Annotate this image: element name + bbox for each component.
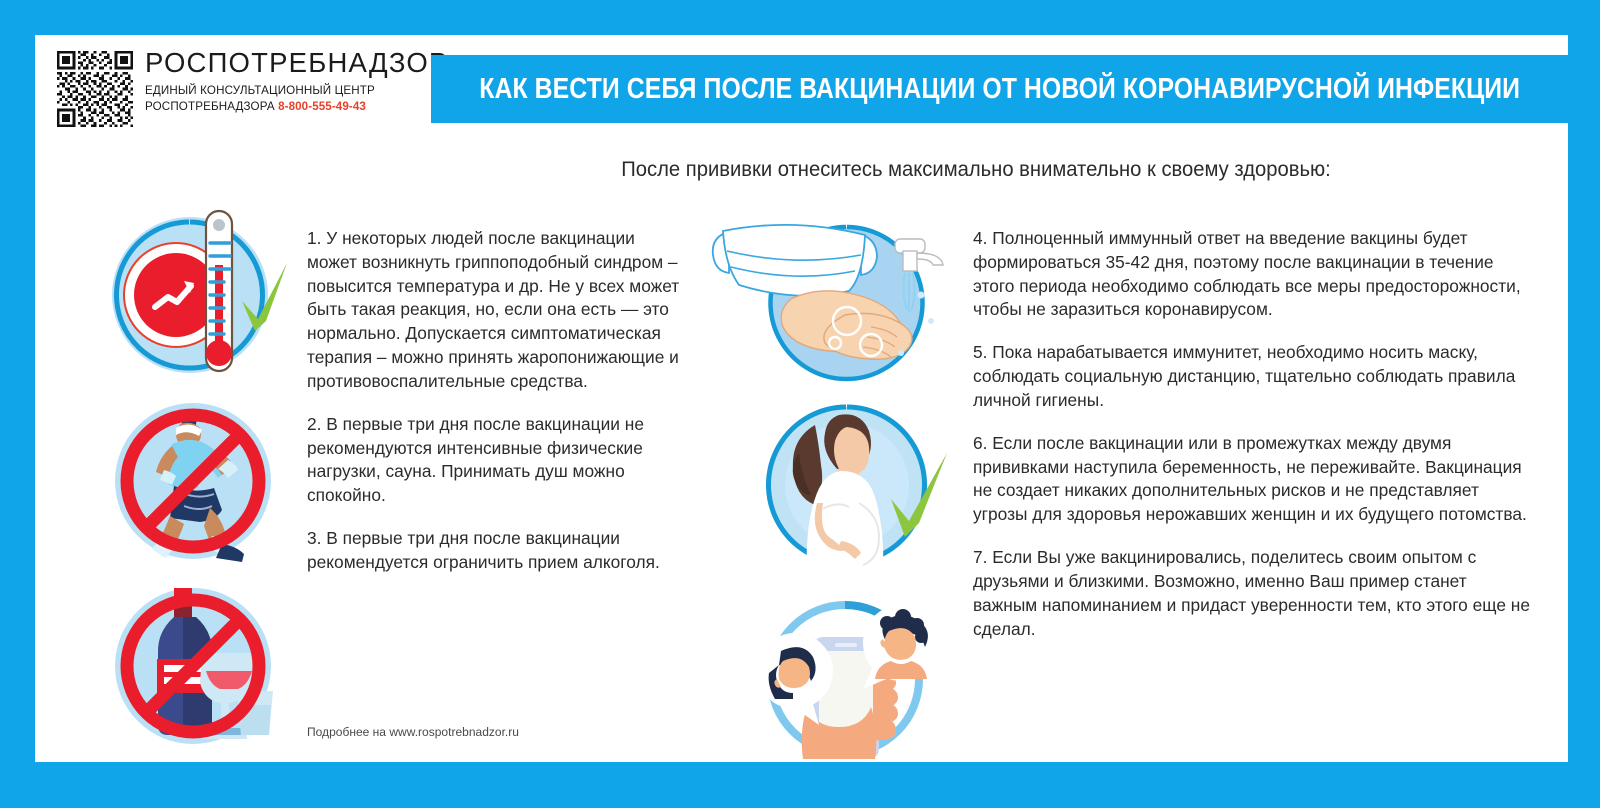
mask-and-handwashing-icon (695, 203, 985, 391)
middle-icon-column (695, 203, 895, 767)
brand-text-block: РОСПОТРЕБНАДЗОР ЕДИНЫЙ КОНСУЛЬТАЦИОННЫЙ … (145, 47, 448, 116)
brand-subtitle-line1: ЕДИНЫЙ КОНСУЛЬТАЦИОННЫЙ ЦЕНТР (145, 84, 375, 97)
pregnant-woman-approved-icon (695, 391, 985, 579)
no-running-exercise-icon (98, 388, 298, 573)
paragraph-5: 5. Пока нарабатывается иммунитет, необхо… (973, 341, 1534, 412)
paragraph-4: 4. Полноценный иммунный ответ на введени… (973, 227, 1534, 322)
share-experience-phone-icon (695, 579, 985, 767)
left-text-column: 1. У некоторых людей после вакцинации мо… (307, 227, 687, 575)
poster-card: РОСПОТРЕБНАДЗОР ЕДИНЫЙ КОНСУЛЬТАЦИОННЫЙ … (35, 35, 1568, 762)
right-text-column: 4. Полноценный иммунный ответ на введени… (973, 227, 1543, 641)
brand-subtitle: ЕДИНЫЙ КОНСУЛЬТАЦИОННЫЙ ЦЕНТР РОСПОТРЕБН… (145, 83, 448, 116)
poster-header: РОСПОТРЕБНАДЗОР ЕДИНЫЙ КОНСУЛЬТАЦИОННЫЙ … (35, 35, 1568, 140)
paragraph-1: 1. У некоторых людей после вакцинации мо… (307, 227, 681, 394)
footnote-website[interactable]: Подробнее на www.rospotrebnadzor.ru (307, 725, 519, 739)
paragraph-3: 3. В первые три дня после вакцинации рек… (307, 527, 681, 575)
page-title: КАК ВЕСТИ СЕБЯ ПОСЛЕ ВАКЦИНАЦИИ ОТ НОВОЙ… (479, 73, 1520, 106)
subtitle: После прививки отнеситесь максимально вн… (464, 157, 1489, 182)
qr-code-icon (57, 51, 133, 127)
brand-name: РОСПОТРЕБНАДЗОР (145, 49, 448, 78)
poster-root: РОСПОТРЕБНАДЗОР ЕДИНЫЙ КОНСУЛЬТАЦИОННЫЙ … (0, 0, 1600, 808)
left-icon-column (98, 203, 298, 758)
paragraph-2: 2. В первые три дня после вакцинации не … (307, 413, 681, 508)
title-banner: КАК ВЕСТИ СЕБЯ ПОСЛЕ ВАКЦИНАЦИИ ОТ НОВОЙ… (431, 55, 1568, 123)
consultation-phone[interactable]: 8-800-555-49-43 (278, 100, 366, 113)
rospotrebnadzor-brand: РОСПОТРЕБНАДЗОР ЕДИНЫЙ КОНСУЛЬТАЦИОННЫЙ … (57, 47, 437, 139)
brand-subtitle-line2: РОСПОТРЕБНАДЗОРА (145, 100, 275, 113)
paragraph-7: 7. Если Вы уже вакцинировались, поделите… (973, 546, 1534, 641)
thermometer-temperature-icon (98, 203, 298, 388)
paragraph-6: 6. Если после вакцинации или в промежутк… (973, 432, 1534, 527)
no-alcohol-icon (98, 573, 298, 758)
